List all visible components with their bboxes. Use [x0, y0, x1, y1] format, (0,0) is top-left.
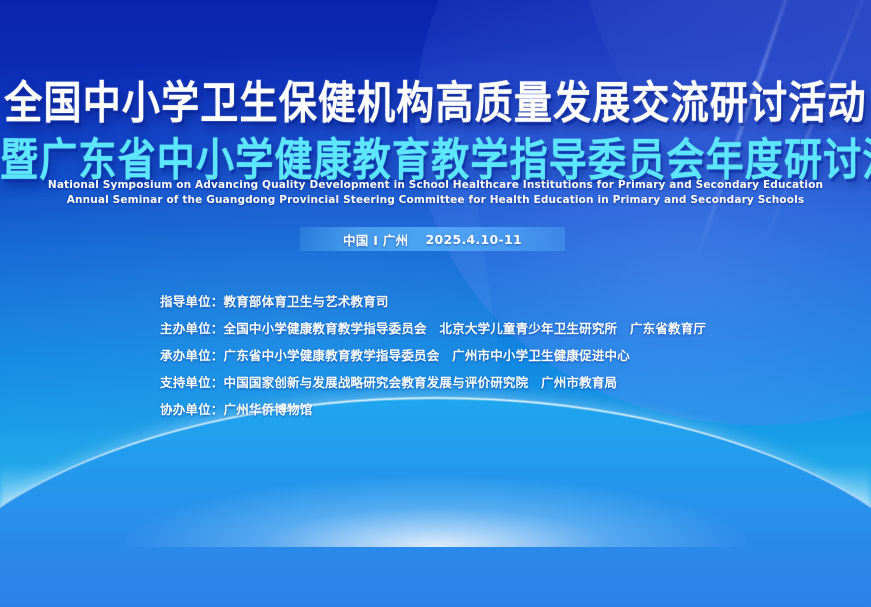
organizer-value: 教育部体育卫生与艺术教育司: [224, 291, 389, 310]
event-location: 中国 I 广州: [343, 230, 408, 249]
organizer-value: 全国中小学健康教育教学指导委员会 北京大学儿童青少年卫生研究所 广东省教育厅: [224, 318, 707, 337]
skyline-mist: [0, 465, 871, 535]
organizer-list: 指导单位： 教育部体育卫生与艺术教育司 主办单位： 全国中小学健康教育教学指导委…: [160, 291, 820, 426]
organizer-row: 协办单位： 广州华侨博物馆: [160, 399, 820, 426]
organizer-label: 主办单位：: [160, 318, 224, 337]
organizer-row: 支持单位： 中国国家创新与发展战略研究会教育发展与评价研究院 广州市教育局: [160, 372, 820, 399]
organizer-value: 广州华侨博物馆: [224, 399, 313, 418]
event-location-date-badge: 中国 I 广州 2025.4.10-11: [300, 227, 565, 251]
english-subtitle-line-1: National Symposium on Advancing Quality …: [0, 178, 871, 193]
organizer-row: 承办单位： 广东省中小学健康教育教学指导委员会 广州市中小学卫生健康促进中心: [160, 345, 820, 372]
ctf-window-grid: [459, 442, 479, 493]
organizer-value: 广东省中小学健康教育教学指导委员会 广州市中小学卫生健康促进中心: [224, 345, 630, 364]
skyline-people: [288, 498, 386, 512]
ground-curve: [0, 397, 871, 607]
badge-inner: 中国 I 广州 2025.4.10-11: [343, 230, 522, 249]
school-window-bands: [283, 455, 367, 494]
event-date: 2025.4.10-11: [425, 232, 522, 247]
organizer-value: 中国国家创新与发展战略研究会教育发展与评价研究院 广州市教育局: [224, 372, 618, 391]
organizer-row: 主办单位： 全国中小学健康教育教学指导委员会 北京大学儿童青少年卫生研究所 广东…: [160, 318, 820, 345]
horizon-arc-line: [0, 397, 871, 607]
english-subtitle-line-2: Annual Seminar of the Guangdong Provinci…: [0, 193, 871, 208]
skyline-canton-tower: [368, 420, 395, 523]
skyline-school-building: [262, 444, 393, 523]
skyline-foliage: [245, 471, 282, 512]
organizer-row: 指导单位： 教育部体育卫生与艺术教育司: [160, 291, 820, 318]
horizon-glow: [126, 477, 746, 547]
english-subtitle-block: National Symposium on Advancing Quality …: [0, 178, 871, 208]
skyline-office-tower: [512, 446, 538, 523]
school-mullions: [300, 452, 372, 500]
organizer-label: 指导单位：: [160, 291, 224, 310]
organizer-label: 协办单位：: [160, 399, 224, 418]
skyline-ctf-tower: [448, 430, 491, 523]
skyline-distant-towers: [570, 444, 814, 523]
organizer-label: 承办单位：: [160, 345, 224, 364]
school-wing-windows: [334, 469, 389, 499]
title-block: 全国中小学卫生保健机构高质量发展交流研讨活动 暨广东省中小学健康教育教学指导委员…: [0, 74, 871, 181]
skyline-twin-spires: [405, 434, 443, 523]
main-title-line-1: 全国中小学卫生保健机构高质量发展交流研讨活动: [0, 74, 871, 132]
organizer-label: 支持单位：: [160, 372, 224, 391]
conference-poster: 全国中小学卫生保健机构高质量发展交流研讨活动 暨广东省中小学健康教育教学指导委员…: [0, 0, 871, 607]
